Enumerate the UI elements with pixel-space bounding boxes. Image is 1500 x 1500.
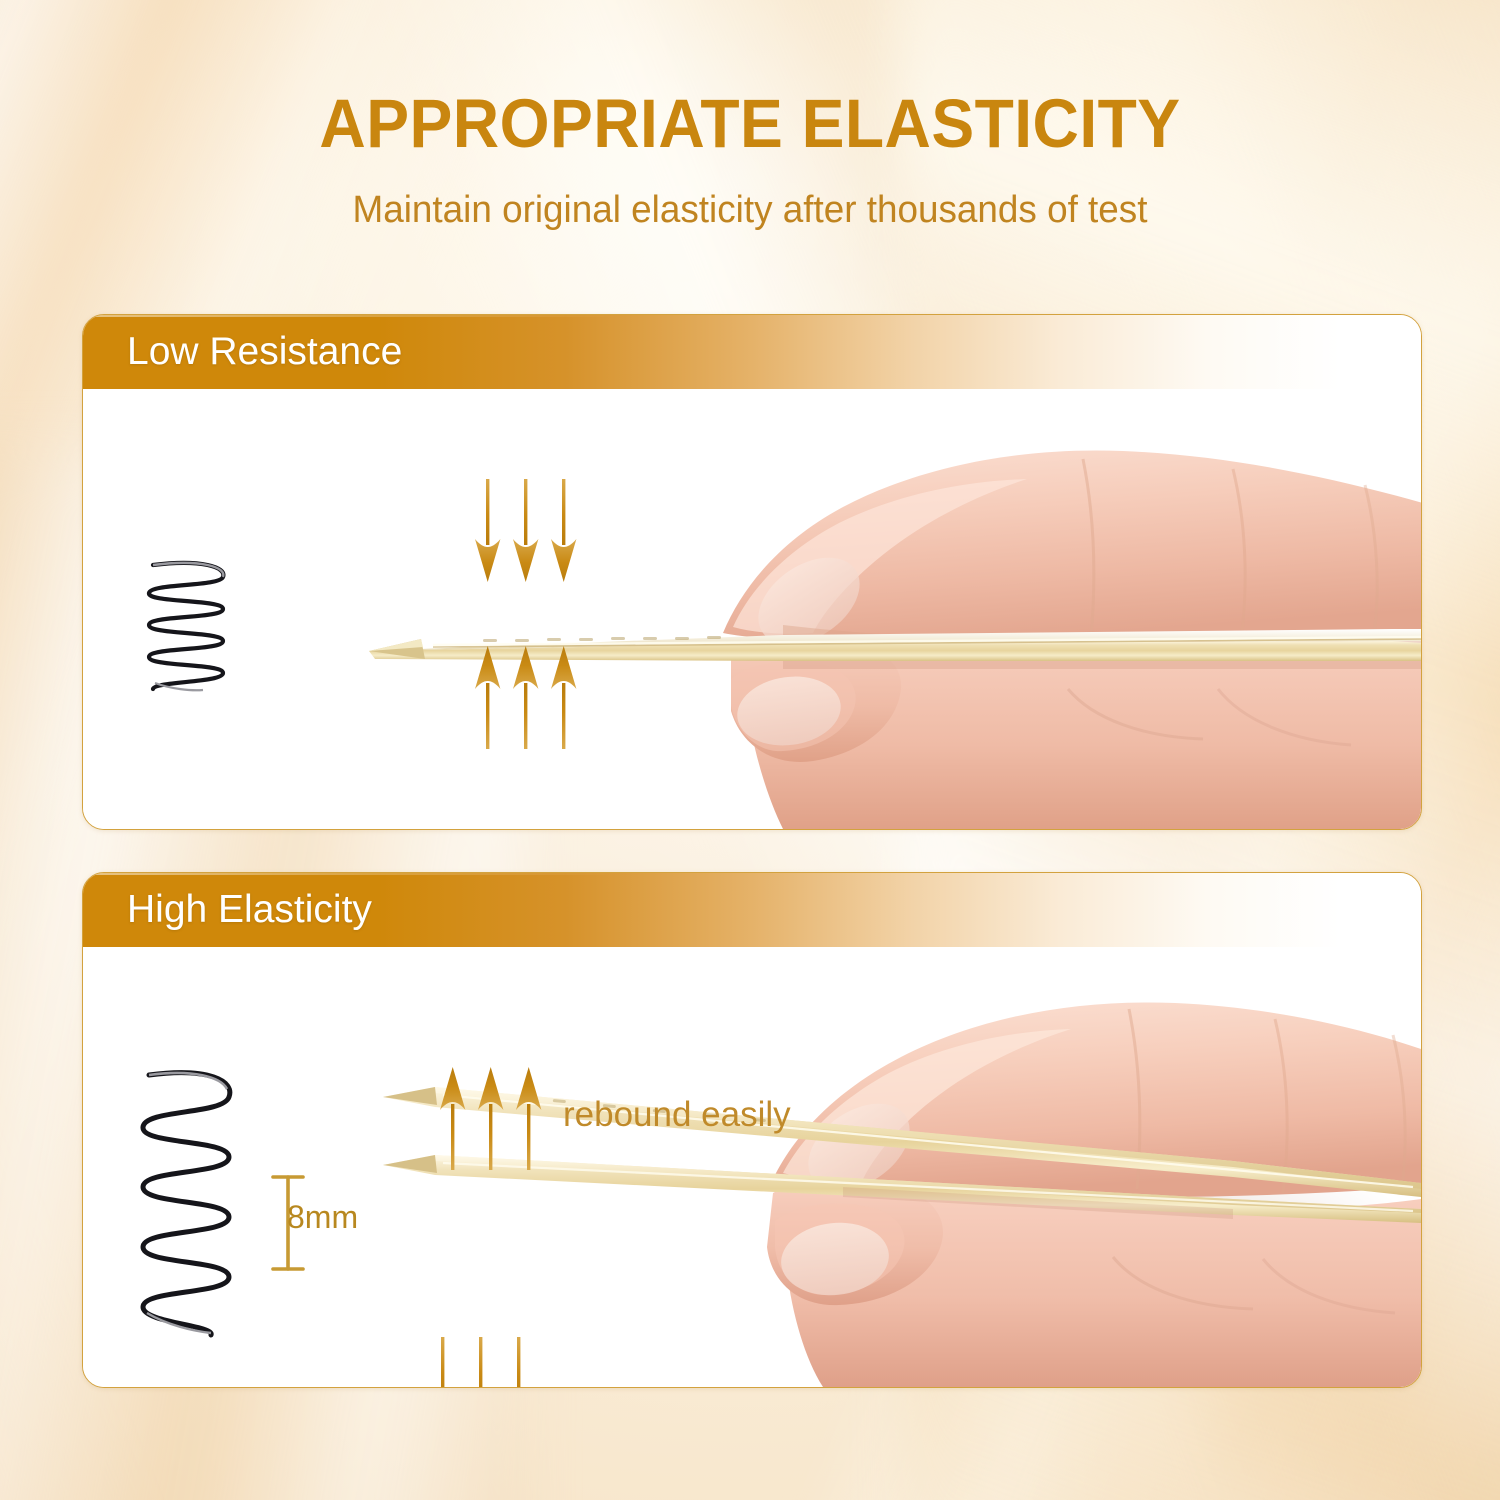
panel-body-high-elasticity: 8mm rebo	[83, 947, 1421, 1387]
header-highlight	[83, 315, 1421, 317]
gap-dimension-label: 8mm	[287, 1199, 358, 1236]
panel-header-bar-high-elasticity: High Elasticity	[83, 873, 1421, 947]
arrows-up-icon	[473, 644, 583, 749]
compressed-spring-icon	[131, 557, 241, 697]
page-title: APPROPRIATE ELASTICITY	[53, 84, 1448, 163]
expanded-spring-icon	[123, 1065, 249, 1345]
rebound-label: rebound easily	[563, 1095, 791, 1135]
header-block: APPROPRIATE ELASTICITY Maintain original…	[0, 84, 1500, 232]
panel-body-low-resistance	[83, 389, 1421, 829]
panel-title-low-resistance: Low Resistance	[127, 330, 402, 374]
arrows-down-icon	[473, 479, 583, 584]
page-subtitle: Maintain original elasticity after thous…	[23, 189, 1478, 232]
photo-hand-holding-open-tweezers	[83, 947, 1421, 1387]
infographic-stage: APPROPRIATE ELASTICITY Maintain original…	[0, 0, 1500, 1500]
panel-high-elasticity: High Elasticity	[82, 872, 1422, 1388]
photo-hand-squeezing-tweezers	[83, 389, 1421, 829]
panel-header-bar-low-resistance: Low Resistance	[83, 315, 1421, 389]
arrows-down-icon	[428, 1337, 538, 1388]
panel-title-high-elasticity: High Elasticity	[127, 888, 372, 932]
arrows-up-icon	[438, 1065, 548, 1170]
header-highlight	[83, 873, 1421, 875]
panel-low-resistance: Low Resistance	[82, 314, 1422, 830]
